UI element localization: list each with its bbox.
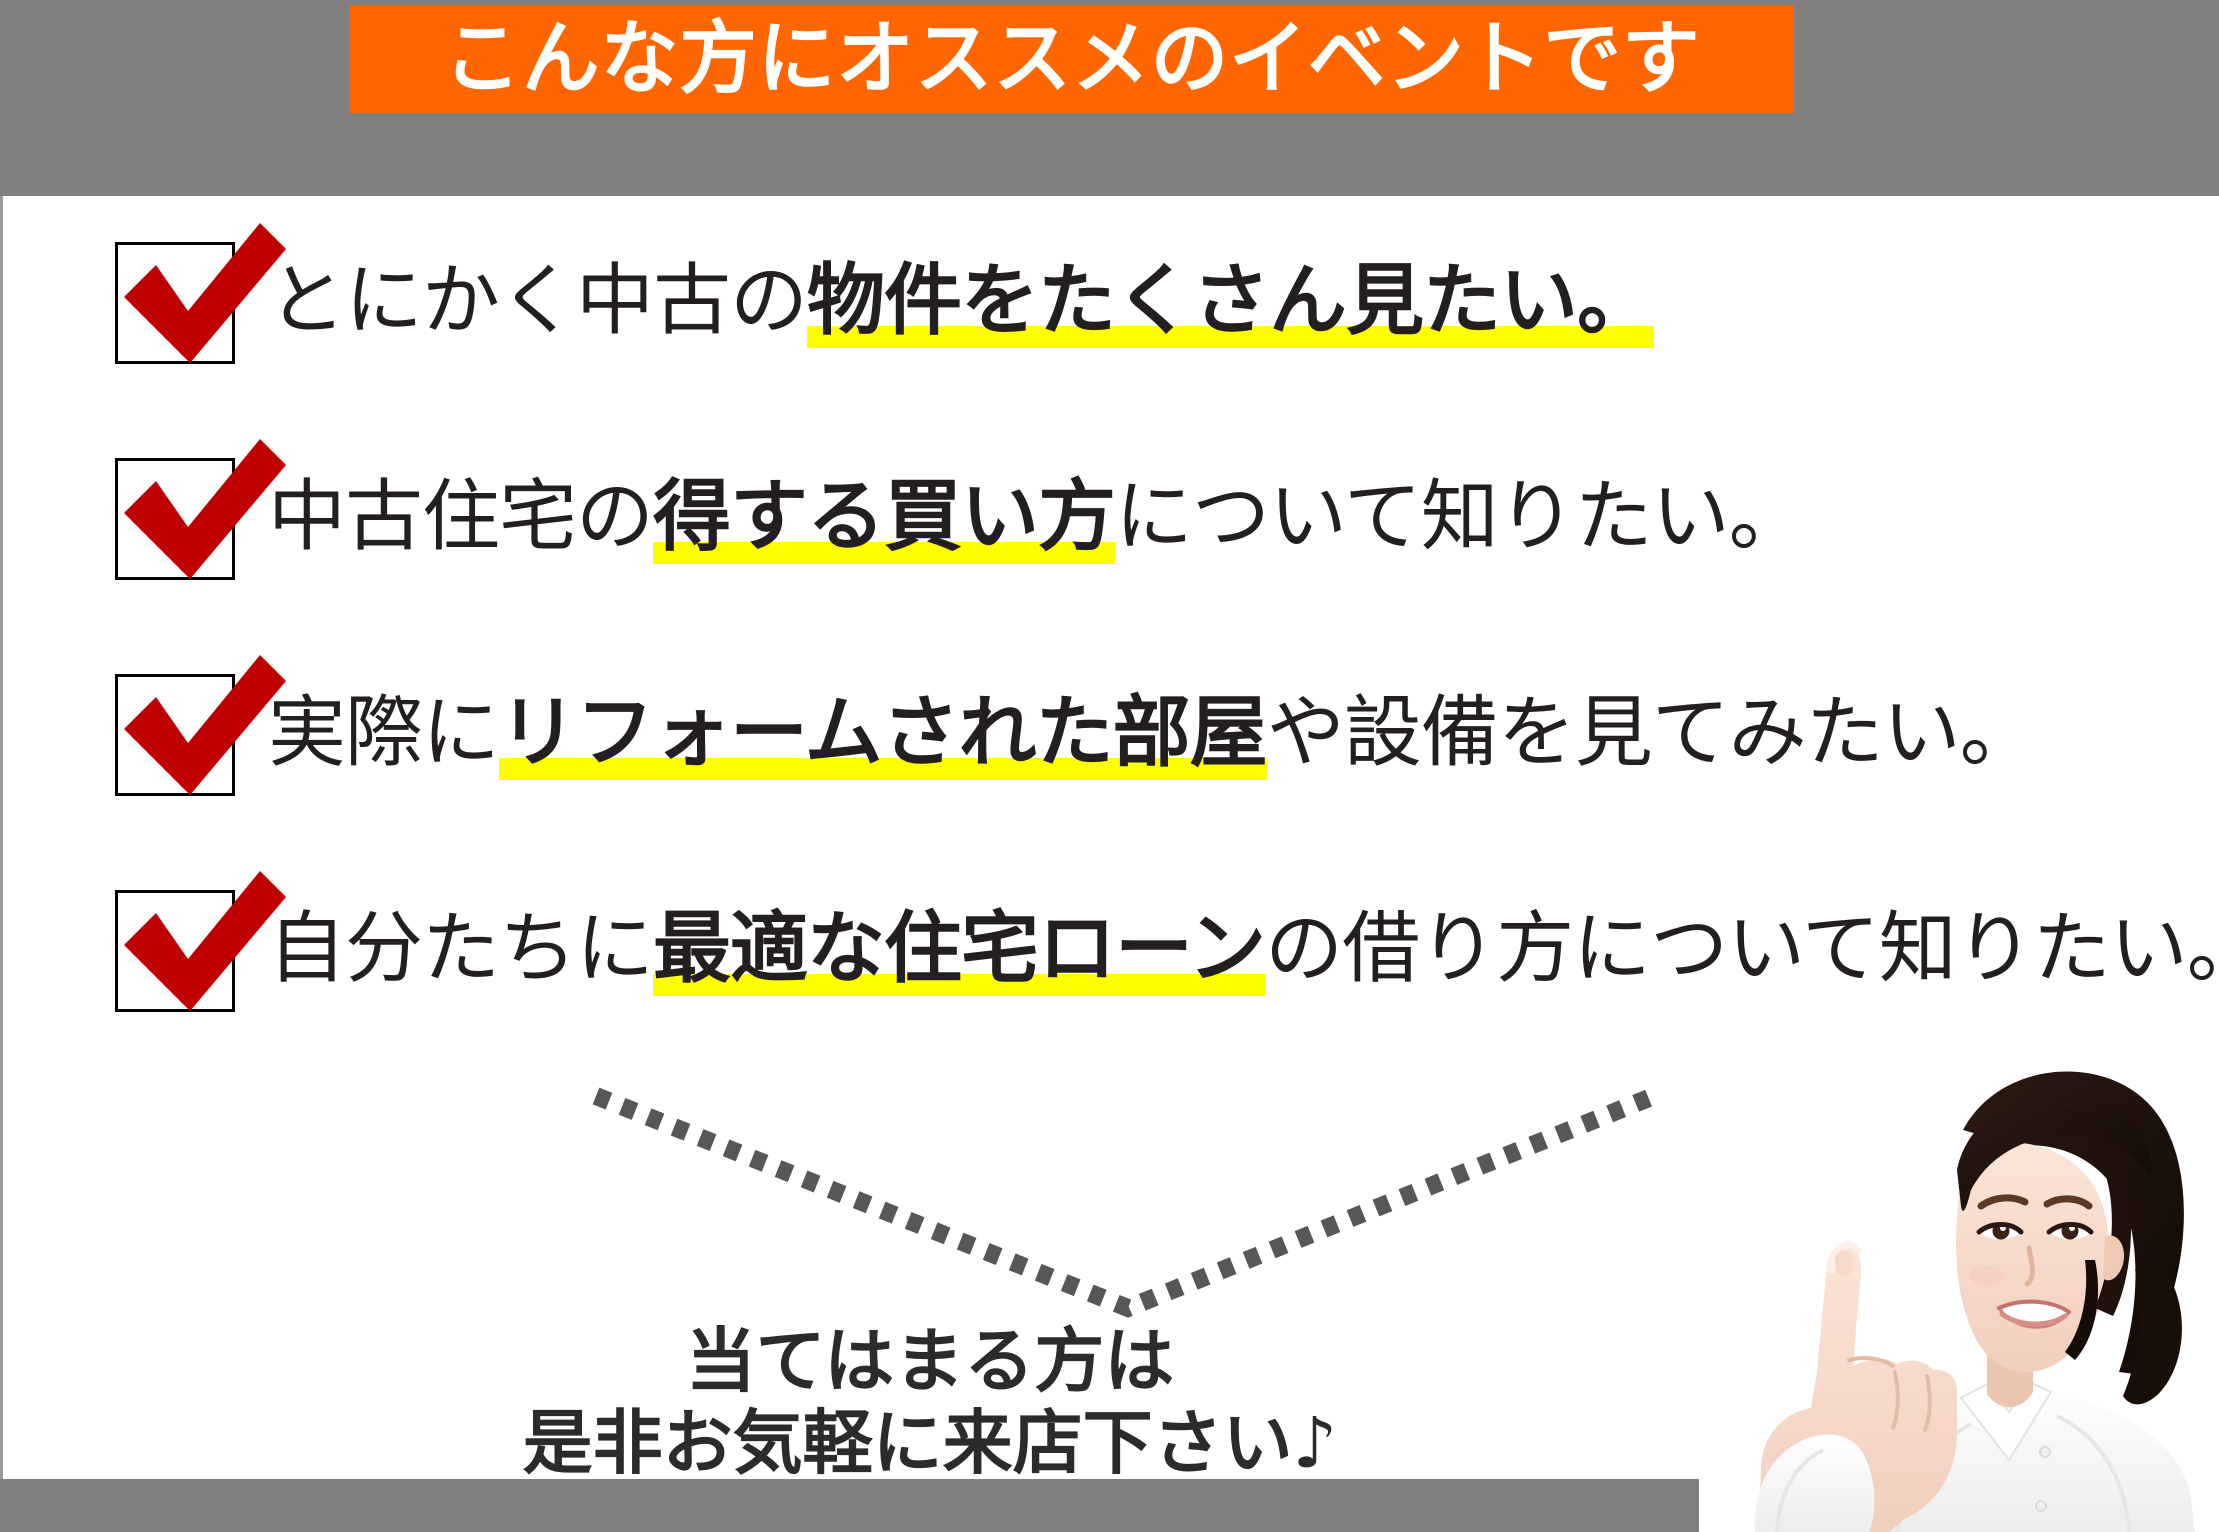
page-title: こんな方にオススメのイベントです [443, 19, 1700, 99]
list-item: 自分たちに最適な住宅ローンの借り方について知りたい。 [115, 884, 2115, 1014]
text-highlight: 最適な住宅ローン [653, 904, 1265, 996]
checkbox-icon [115, 458, 235, 580]
text-highlight: 物件をたくさん見たい。 [807, 256, 1654, 348]
list-item: 実際にリフォームされた部屋や設備を見てみたい。 [115, 668, 2115, 798]
cta-line-2: 是非お気軽に来店下さい♪ [0, 1402, 1860, 1484]
cta-line-1: 当てはまる方は [0, 1320, 1860, 1402]
text-plain-before: 実際に [268, 688, 499, 778]
text-plain-after: の借り方について知りたい。 [1265, 904, 2219, 994]
checkbox-icon [115, 890, 235, 1012]
list-item-text: 実際にリフォームされた部屋や設備を見てみたい。 [268, 668, 2037, 798]
text-highlight: リフォームされた部屋 [499, 688, 1267, 780]
checkbox-icon [115, 242, 235, 364]
title-banner: こんな方にオススメのイベントです [350, 5, 1794, 113]
text-highlight: 得する買い方 [653, 472, 1115, 564]
cta-text: 当てはまる方は 是非お気軽に来店下さい♪ [0, 1320, 1860, 1484]
list-item: 中古住宅の得する買い方について知りたい。 [115, 452, 2115, 582]
checkbox-icon [115, 674, 235, 796]
top-gray-band: こんな方にオススメのイベントです [0, 0, 2219, 196]
text-plain-before: 自分たちに [268, 904, 653, 994]
list-item: とにかく中古の物件をたくさん見たい。 [115, 236, 2115, 366]
text-plain-after: について知りたい。 [1115, 472, 1806, 562]
promo-banner: こんな方にオススメのイベントです とにかく中古の物件をたくさん見たい。 中古住宅… [0, 0, 2219, 1532]
text-plain-before: とにかく中古の [268, 256, 807, 346]
checklist: とにかく中古の物件をたくさん見たい。 中古住宅の得する買い方について知りたい。 … [115, 236, 2115, 1014]
list-item-text: とにかく中古の物件をたくさん見たい。 [268, 236, 1654, 366]
list-item-text: 中古住宅の得する買い方について知りたい。 [268, 452, 1806, 582]
smiling-woman-pointing-up-photo [1699, 1020, 2219, 1532]
text-plain-before: 中古住宅の [268, 472, 653, 562]
text-plain-after: や設備を見てみたい。 [1267, 688, 2037, 778]
list-item-text: 自分たちに最適な住宅ローンの借り方について知りたい。 [268, 884, 2219, 1014]
